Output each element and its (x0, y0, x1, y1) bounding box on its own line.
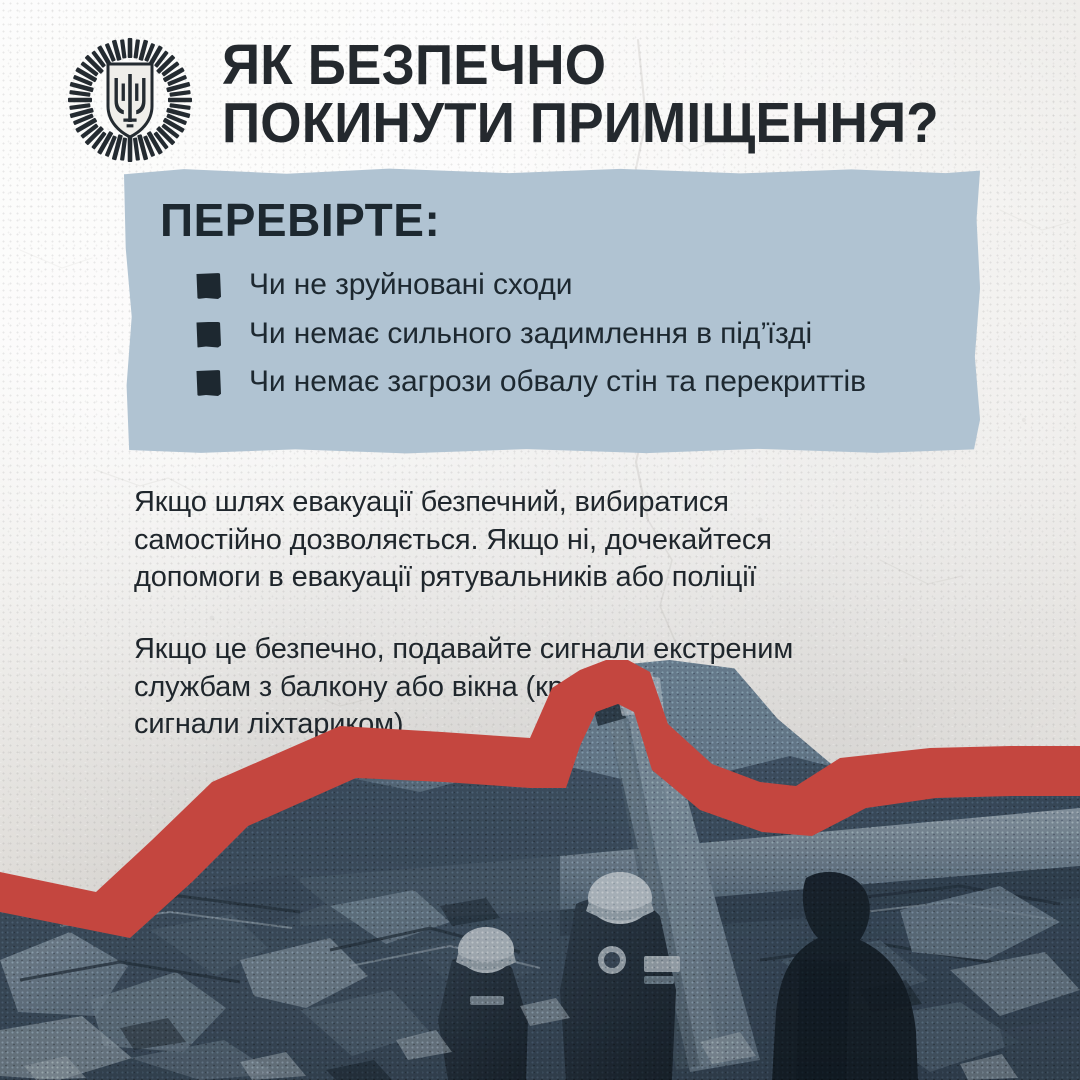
ukrainian-national-police-emblem (64, 34, 196, 166)
page-title: ЯК БЕЗПЕЧНО ПОКИНУТИ ПРИМІЩЕННЯ? (222, 36, 1003, 152)
square-bullet-icon (196, 322, 221, 348)
checklist: Чи не зруйновані сходи Чи немає сильного… (196, 268, 986, 414)
list-item: Чи немає сильного задимлення в під’їзді (196, 317, 986, 352)
square-bullet-icon (196, 370, 221, 396)
title-line-1: ЯК БЕЗПЕЧНО (222, 36, 1003, 94)
list-item: Чи немає загрози обвалу стін та перекрит… (196, 365, 986, 400)
list-item-label: Чи немає сильного задимлення в під’їзді (249, 317, 812, 352)
checklist-heading: ПЕРЕВІРТЕ: (160, 193, 440, 247)
list-item-label: Чи немає загрози обвалу стін та перекрит… (249, 365, 866, 400)
square-bullet-icon (196, 273, 221, 299)
infographic-poster: ЯК БЕЗПЕЧНО ПОКИНУТИ ПРИМІЩЕННЯ? ПЕРЕВІР… (0, 0, 1080, 1080)
paragraph-evacuation-route: Якщо шлях евакуації безпечний, вибиратис… (134, 484, 964, 597)
list-item: Чи не зруйновані сходи (196, 268, 986, 303)
rubble-photograph (0, 660, 1080, 1080)
list-item-label: Чи не зруйновані сходи (249, 268, 572, 303)
photo-halftone-grain (0, 660, 1080, 1080)
title-line-2: ПОКИНУТИ ПРИМІЩЕННЯ? (222, 94, 1003, 152)
